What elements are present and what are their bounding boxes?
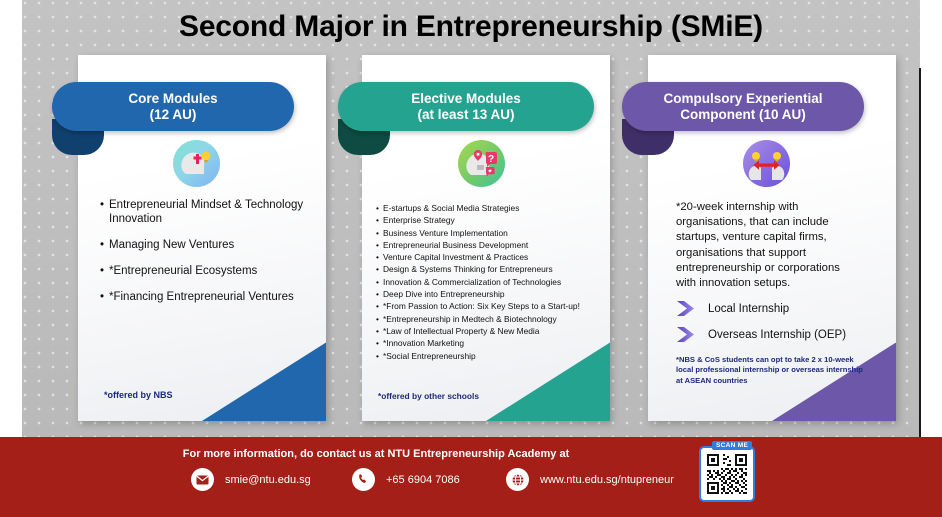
phone-icon <box>352 468 375 491</box>
contact-website[interactable]: www.ntu.edu.sg/ntupreneur <box>506 468 674 491</box>
contact-website-label: www.ntu.edu.sg/ntupreneur <box>540 474 674 486</box>
list-item: Deep Dive into Entrepreneurship <box>376 288 600 300</box>
right-white-margin <box>920 0 942 437</box>
contact-phone[interactable]: +65 6904 7086 <box>352 468 460 491</box>
contact-email[interactable]: smie@ntu.edu.sg <box>191 468 311 491</box>
internship-overseas-label: Overseas Internship (OEP) <box>708 329 846 341</box>
banner-comp-line1: Compulsory Experiential <box>663 91 822 107</box>
internship-local-label: Local Internship <box>708 303 789 315</box>
banner-elective-line1: Elective Modules <box>411 91 521 107</box>
banner-core-modules: Core Modules (12 AU) <box>52 82 294 131</box>
contact-email-label: smie@ntu.edu.sg <box>225 474 311 486</box>
list-item: *Innovation Marketing <box>376 337 600 349</box>
banner-elective-line2: (at least 13 AU) <box>411 107 521 123</box>
list-item: *Entrepreneurship in Medtech & Biotechno… <box>376 313 600 325</box>
chevron-right-icon <box>676 300 698 317</box>
elective-modules-list: E-startups & Social Media Strategies Ent… <box>376 202 600 362</box>
note-core: *offered by NBS <box>104 390 173 400</box>
right-vertical-rule <box>919 68 921 437</box>
internship-local: Local Internship <box>676 300 789 317</box>
list-item: *Entrepreneurial Ecosystems <box>100 264 310 278</box>
list-item: *From Passion to Action: Six Key Steps t… <box>376 300 600 312</box>
head-question-pin-icon: ? <box>458 140 505 187</box>
list-item: *Financing Entrepreneurial Ventures <box>100 290 310 304</box>
poster: Second Major in Entrepreneurship (SMiE) … <box>0 0 942 517</box>
note-compulsory: *NBS & CoS students can opt to take 2 x … <box>676 355 866 386</box>
list-item: Enterprise Strategy <box>376 214 600 226</box>
note-elective: *offered by other schools <box>378 391 479 401</box>
head-lightbulb-icon <box>173 140 220 187</box>
list-item: Entrepreneurial Business Development <box>376 239 600 251</box>
internship-overseas: Overseas Internship (OEP) <box>676 326 846 343</box>
banner-elective-modules: Elective Modules (at least 13 AU) <box>338 82 594 131</box>
list-item: Managing New Ventures <box>100 238 310 252</box>
list-item: Design & Systems Thinking for Entreprene… <box>376 263 600 275</box>
list-item: *Social Entrepreneurship <box>376 350 600 362</box>
chevron-right-icon <box>676 326 698 343</box>
globe-icon <box>506 468 529 491</box>
list-item: Venture Capital Investment & Practices <box>376 251 600 263</box>
corner-triangle-blue <box>202 326 326 421</box>
compulsory-paragraph: *20-week internship with organisations, … <box>676 200 862 291</box>
scan-me-label: SCAN ME <box>712 441 752 450</box>
core-modules-list: Entrepreneurial Mindset & Technology Inn… <box>100 198 310 316</box>
envelope-icon <box>191 468 214 491</box>
footer-headline: For more information, do contact us at N… <box>0 448 752 460</box>
banner-comp-line2: Component (10 AU) <box>663 107 822 123</box>
banner-core-line1: Core Modules <box>128 91 217 107</box>
qr-code[interactable] <box>699 446 755 502</box>
list-item: Entrepreneurial Mindset & Technology Inn… <box>100 198 310 226</box>
banner-core-line2: (12 AU) <box>128 107 217 123</box>
list-item: Innovation & Commercialization of Techno… <box>376 276 600 288</box>
contact-phone-label: +65 6904 7086 <box>386 474 460 486</box>
banner-compulsory-component: Compulsory Experiential Component (10 AU… <box>622 82 864 131</box>
two-heads-lightbulbs-icon <box>743 140 790 187</box>
list-item: *Law of Intellectual Property & New Medi… <box>376 325 600 337</box>
svg-text:?: ? <box>488 154 494 165</box>
list-item: E-startups & Social Media Strategies <box>376 202 600 214</box>
page-title: Second Major in Entrepreneurship (SMiE) <box>0 10 942 44</box>
list-item: Business Venture Implementation <box>376 227 600 239</box>
